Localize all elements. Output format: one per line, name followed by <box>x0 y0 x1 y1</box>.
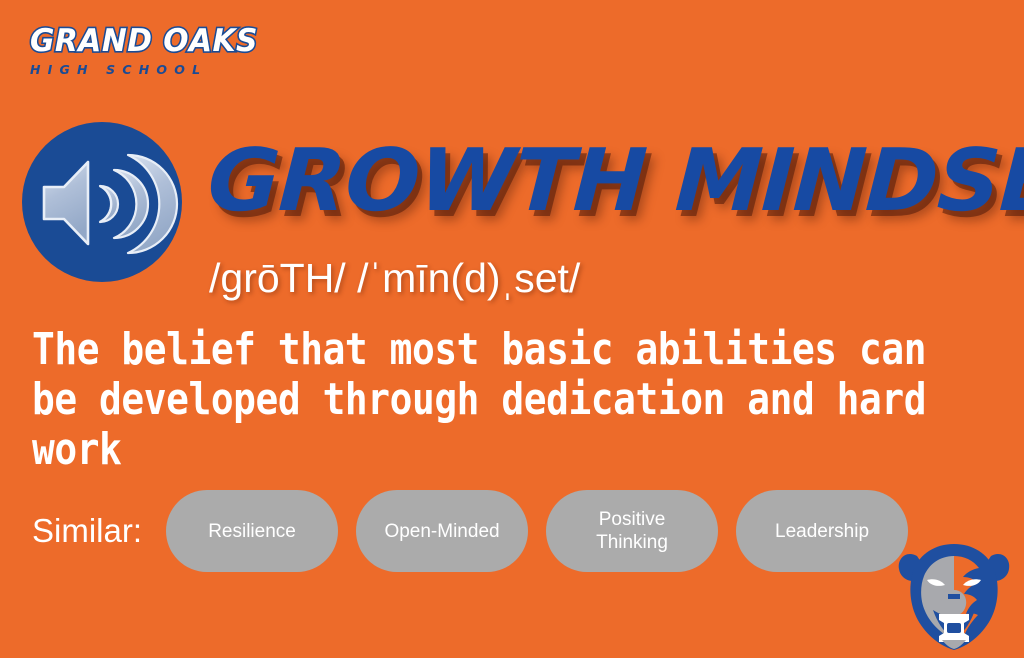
school-logo-subwordmark: HIGH SCHOOL <box>30 62 240 77</box>
similar-label: Similar: <box>32 512 142 550</box>
pronunciation-text: /grōTH/ /ˈmīn(d)ˌset/ <box>209 254 580 302</box>
synonym-pill-open-minded[interactable]: Open-Minded <box>356 490 528 572</box>
similar-words-row: Similar: Resilience Open-Minded Positive… <box>32 490 926 572</box>
definition-text: The belief that most basic abilities can… <box>32 325 969 475</box>
growth-mindset-card: GRAND OAKS HIGH SCHOOL GROWTH MINDSE <box>0 0 1024 658</box>
synonym-pill-resilience[interactable]: Resilience <box>166 490 338 572</box>
synonym-pill-leadership[interactable]: Leadership <box>736 490 908 572</box>
bear-mascot-icon <box>893 530 1015 652</box>
school-logo-wordmark: GRAND OAKS <box>30 24 232 58</box>
page-title: GROWTH MINDSET <box>205 133 1024 229</box>
speaker-audio-icon[interactable] <box>22 122 182 282</box>
school-logo: GRAND OAKS HIGH SCHOOL <box>30 24 240 86</box>
synonym-pill-positive-thinking[interactable]: Positive Thinking <box>546 490 718 572</box>
